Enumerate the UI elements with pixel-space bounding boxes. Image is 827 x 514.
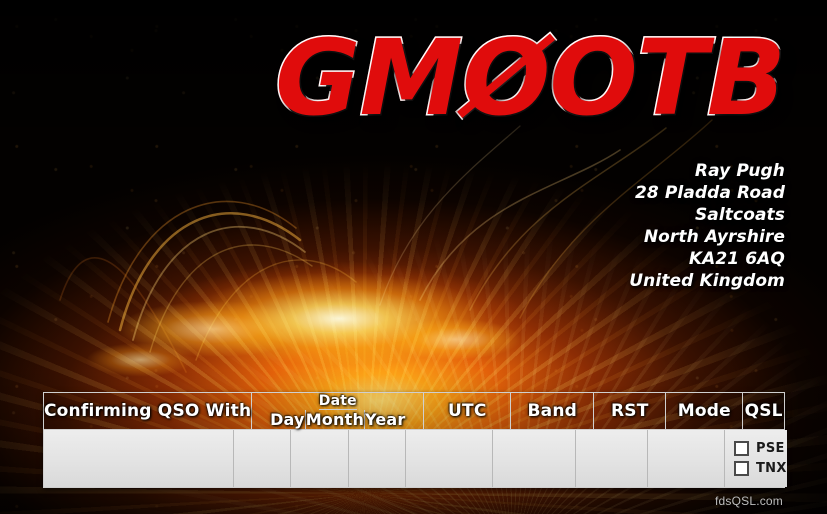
cell-qsl: PSE TNX bbox=[725, 430, 787, 487]
qsl-option-pse[interactable]: PSE bbox=[734, 441, 785, 456]
header-date: Date bbox=[319, 393, 357, 410]
checkbox-tnx-icon[interactable] bbox=[734, 461, 749, 476]
cell-rst[interactable] bbox=[576, 430, 648, 487]
header-rst: RST bbox=[594, 393, 666, 429]
qsl-option-tnx[interactable]: TNX bbox=[734, 461, 787, 476]
operator-address-block: Ray Pugh 28 Pladda Road Saltcoats North … bbox=[629, 160, 785, 292]
cell-month[interactable] bbox=[291, 430, 349, 487]
cell-utc[interactable] bbox=[406, 430, 493, 487]
address-line-county: North Ayrshire bbox=[629, 226, 785, 248]
checkbox-pse-icon[interactable] bbox=[734, 441, 749, 456]
callsign-heading: GMØOTB bbox=[0, 26, 785, 130]
cell-band[interactable] bbox=[493, 430, 576, 487]
header-confirming-qso-with: Confirming QSO With bbox=[44, 393, 252, 429]
log-table-data-row: PSE TNX bbox=[44, 430, 784, 487]
header-day: Day bbox=[270, 410, 306, 429]
address-line-street: 28 Pladda Road bbox=[629, 182, 785, 204]
header-month: Month bbox=[306, 410, 365, 429]
cell-mode[interactable] bbox=[648, 430, 725, 487]
cell-confirming-qso-with[interactable] bbox=[44, 430, 234, 487]
header-year: Year bbox=[365, 410, 405, 429]
header-band: Band bbox=[511, 393, 594, 429]
header-date-subcolumns: Day Month Year bbox=[270, 410, 405, 429]
cell-day[interactable] bbox=[234, 430, 291, 487]
header-utc: UTC bbox=[424, 393, 511, 429]
log-table-header-row: Confirming QSO With Date Day Month Year … bbox=[44, 393, 784, 430]
cell-year[interactable] bbox=[349, 430, 406, 487]
qso-log-table: Confirming QSO With Date Day Month Year … bbox=[43, 392, 785, 488]
qsl-card: GMØOTB Ray Pugh 28 Pladda Road Saltcoats… bbox=[0, 0, 827, 514]
qsl-pse-label: PSE bbox=[756, 441, 785, 456]
printer-watermark: fdsQSL.com bbox=[715, 494, 783, 508]
qsl-tnx-label: TNX bbox=[756, 461, 787, 476]
header-qsl: QSL bbox=[743, 393, 784, 429]
address-line-country: United Kingdom bbox=[629, 270, 785, 292]
address-line-postcode: KA21 6AQ bbox=[629, 248, 785, 270]
header-date-group: Date Day Month Year bbox=[252, 393, 424, 429]
header-mode: Mode bbox=[666, 393, 743, 429]
address-line-town: Saltcoats bbox=[629, 204, 785, 226]
address-line-name: Ray Pugh bbox=[629, 160, 785, 182]
